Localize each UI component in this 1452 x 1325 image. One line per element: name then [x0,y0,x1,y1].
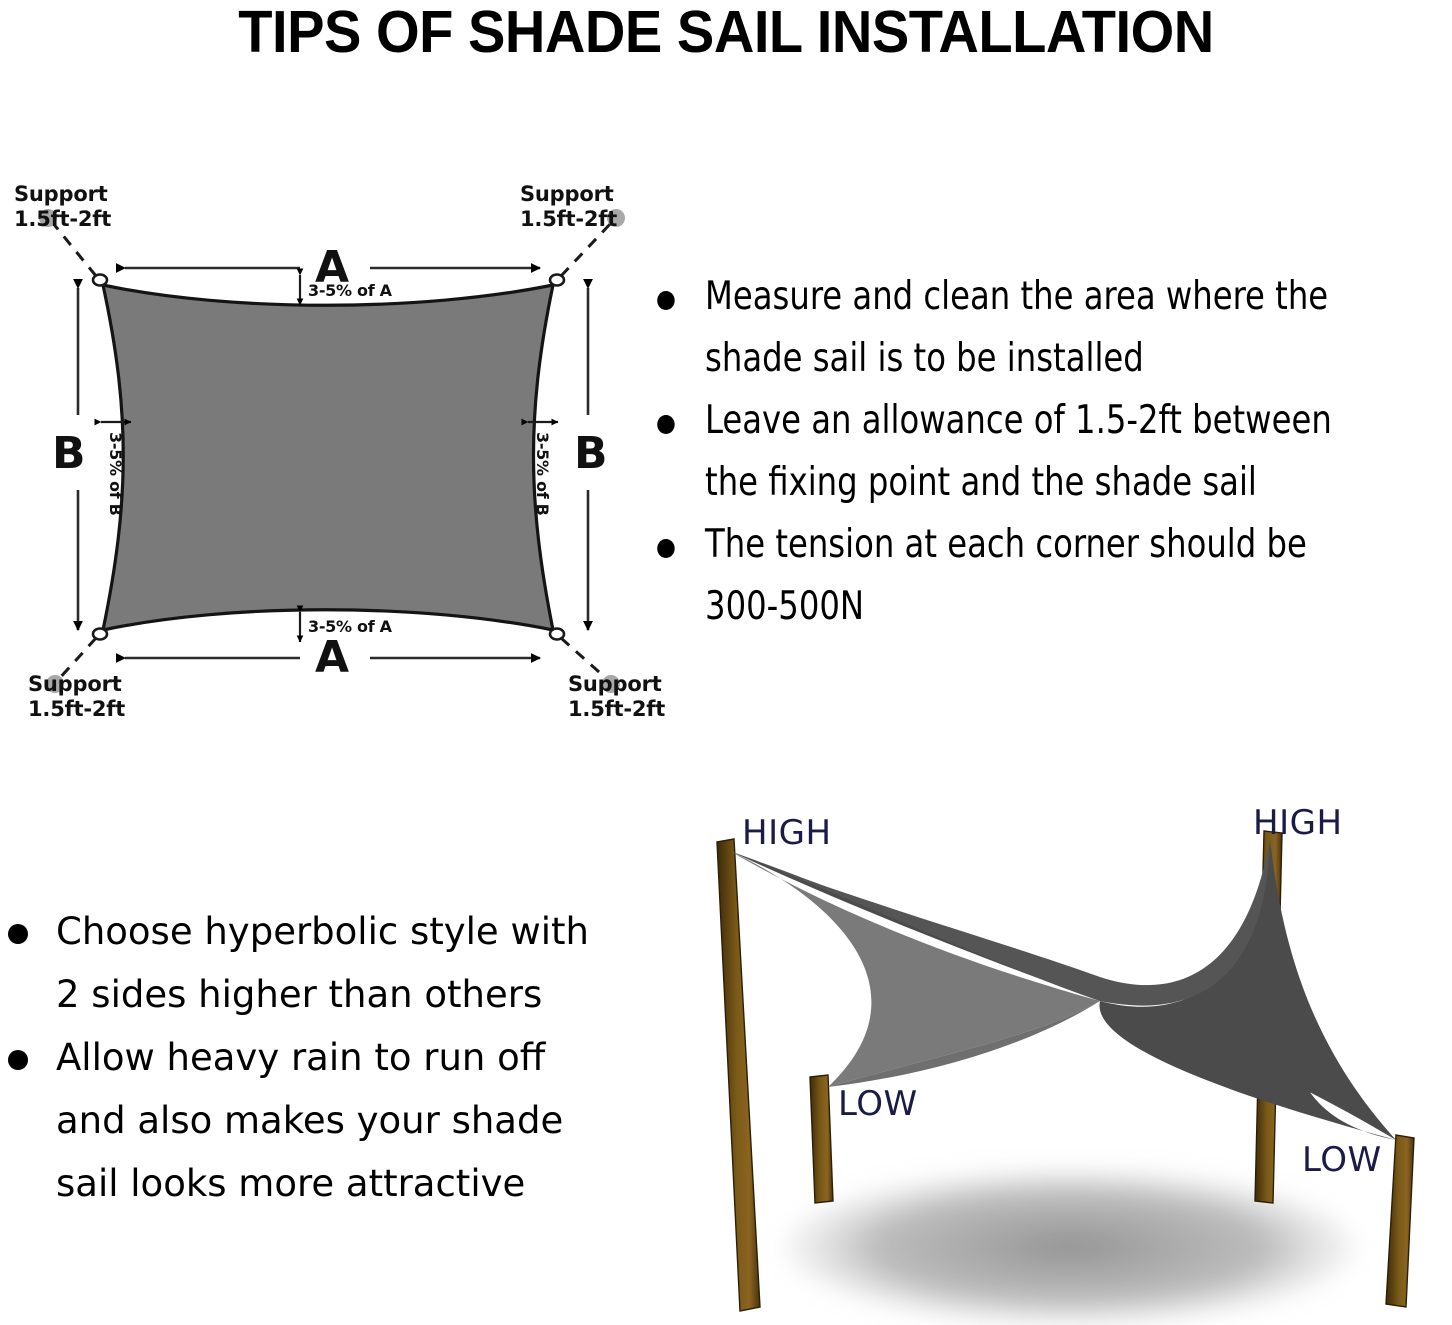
support-label-top-right: Support 1.5ft-2ft [520,182,617,232]
post-high-left [717,839,760,1311]
list-item-cont: and also makes your shade [4,1089,624,1152]
curve-label-left: 3-5% of B [105,432,124,516]
list-item: Leave an allowance of 1.5-2ft between [648,390,1395,452]
rectangular-sail-diagram: Support 1.5ft-2ft Support 1.5ft-2ft Supp… [0,160,660,740]
list-item: Allow heavy rain to run off [4,1026,624,1089]
label-low-right: LOW [1302,1140,1382,1180]
post-low-right [1386,1135,1414,1307]
list-item-cont: sail looks more attractive [4,1152,624,1215]
dimension-label-b-right: B [574,428,608,480]
hyperbolic-style-list: Choose hyperbolic style with 2 sides hig… [4,900,624,1215]
label-low-left: LOW [838,1084,918,1124]
list-item-cont: 300-500N [648,576,1395,638]
list-item-cont: 2 sides higher than others [4,963,624,1026]
list-item: Choose hyperbolic style with [4,900,624,963]
curve-label-bottom: 3-5% of A [308,618,392,637]
infographic-page: TIPS OF SHADE SAIL INSTALLATION [0,0,1452,1325]
dimension-label-a-bottom: A [315,632,349,684]
label-high-right: HIGH [1253,803,1343,843]
list-item-cont: the fixing point and the shade sail [648,452,1395,514]
hyperbolic-sail-illustration: HIGH HIGH LOW LOW [670,795,1452,1325]
list-item: Measure and clean the area where the [648,266,1395,328]
curve-label-top: 3-5% of A [308,282,392,301]
support-label-bottom-right: Support 1.5ft-2ft [568,672,665,722]
curve-label-right: 3-5% of B [532,432,551,516]
dimension-label-b-left: B [52,428,86,480]
label-high-left: HIGH [742,813,832,853]
post-low-left [810,1075,833,1203]
support-label-top-left: Support 1.5ft-2ft [14,182,111,232]
support-label-bottom-left: Support 1.5ft-2ft [28,672,125,722]
page-title: TIPS OF SHADE SAIL INSTALLATION [36,2,1415,62]
sail-fill [103,285,553,630]
list-item: The tension at each corner should be [648,514,1395,576]
installation-tips-list: Measure and clean the area where the sha… [648,266,1452,638]
sail-shape [103,285,553,630]
list-item-cont: shade sail is to be installed [648,328,1395,390]
